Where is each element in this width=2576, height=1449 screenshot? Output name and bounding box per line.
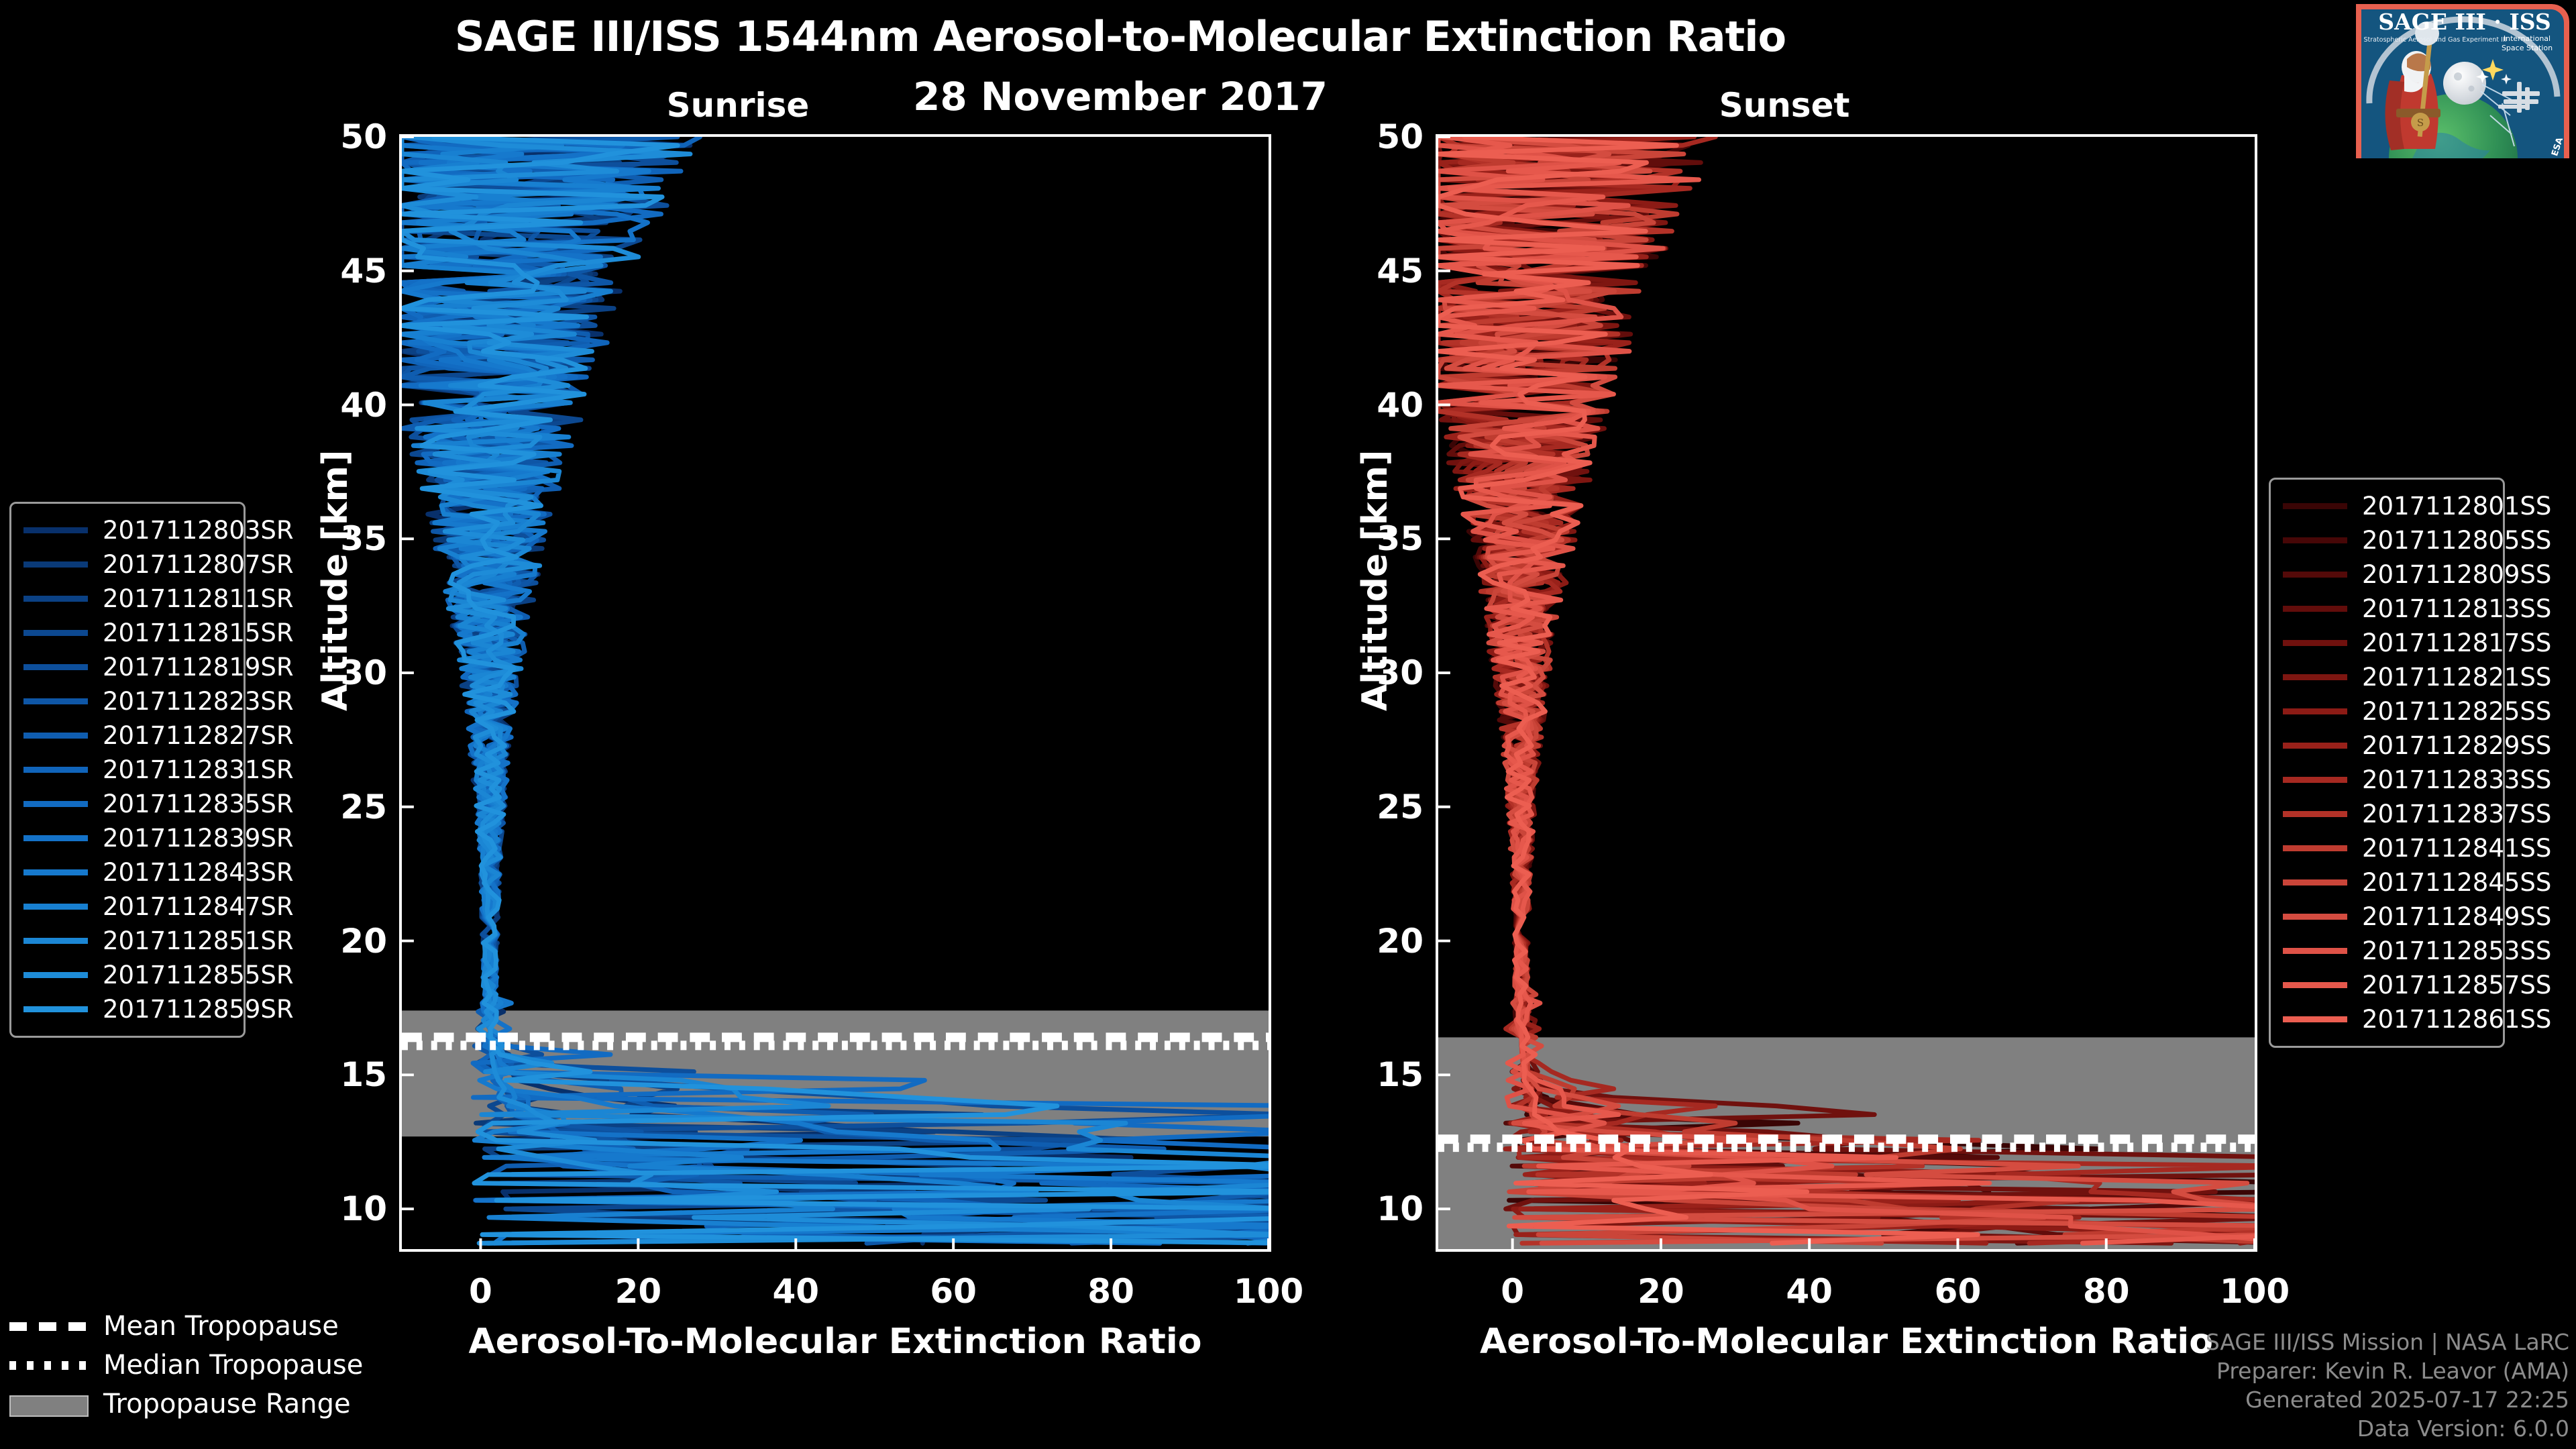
legend-item[interactable]: 2017112827SR (23, 718, 231, 753)
logo-subtitle-right-1: International (2504, 34, 2551, 43)
legend-color-swatch (2283, 1016, 2347, 1022)
legend-color-swatch (2283, 708, 2347, 714)
y-axis-tick-label: 40 (340, 386, 387, 425)
plot-panel-sunrise: 101520253035404550020406080100Aerosol-To… (399, 134, 1271, 1252)
legend-item[interactable]: 2017112851SR (23, 924, 231, 958)
legend-item-label: 2017112831SR (103, 755, 294, 784)
legend-color-swatch (2283, 982, 2347, 988)
legend-item[interactable]: 2017112847SR (23, 890, 231, 924)
plot-panel-sunset: 101520253035404550020406080100Aerosol-To… (1436, 134, 2257, 1252)
x-axis-tick-label: 60 (930, 1272, 977, 1311)
x-axis-title: Aerosol-To-Molecular Extinction Ratio (402, 1322, 1269, 1362)
x-axis-tick-label: 60 (1935, 1272, 1982, 1311)
tropopause-legend: Mean TropopauseMedian TropopauseTropopau… (9, 1307, 363, 1424)
legend-color-swatch (23, 733, 88, 739)
legend-item[interactable]: 2017112835SR (23, 787, 231, 821)
legend-item[interactable]: 2017112843SR (23, 855, 231, 890)
legend-item-label: 2017112819SR (103, 653, 294, 682)
legend-item[interactable]: 2017112831SR (23, 753, 231, 787)
footer-line-generated: Generated 2025-07-17 22:25 (2206, 1386, 2569, 1415)
legend-color-swatch (23, 767, 88, 773)
legend-color-swatch (23, 664, 88, 670)
legend-item[interactable]: 2017112829SS (2283, 729, 2491, 763)
y-axis-tick-label: 20 (340, 922, 387, 961)
legend-color-swatch (2283, 606, 2347, 612)
legend-item-label: 2017112853SS (2362, 936, 2551, 965)
svg-text:S: S (2417, 117, 2424, 129)
legend-item-label: 2017112823SR (103, 687, 294, 716)
legend-color-swatch (2283, 537, 2347, 543)
footer-line-mission: SAGE III/ISS Mission | NASA LaRC (2206, 1328, 2569, 1357)
legend-item[interactable]: 2017112859SR (23, 992, 231, 1026)
legend-color-swatch (2283, 811, 2347, 817)
panel-caption-sunset: Sunset (1650, 86, 1919, 125)
legend-color-swatch (23, 527, 88, 533)
legend-item-label: 2017112835SR (103, 790, 294, 818)
legend-item-label: 2017112849SS (2362, 902, 2551, 931)
legend-item[interactable]: 2017112855SR (23, 958, 231, 992)
legend-item[interactable]: 2017112805SS (2283, 523, 2491, 557)
logo-title: SAGE III · ISS (2378, 9, 2551, 35)
legend-item[interactable]: 2017112801SS (2283, 489, 2491, 523)
legend-color-swatch (23, 904, 88, 910)
tropopause-legend-item: Tropopause Range (9, 1385, 363, 1424)
tropopause-legend-item: Mean Tropopause (9, 1307, 363, 1346)
legend-color-swatch (23, 698, 88, 704)
y-axis-title-sunset: Altitude [km] (1355, 449, 1395, 711)
x-axis-tick-label: 80 (1087, 1272, 1134, 1311)
legend-item-label: 2017112859SR (103, 995, 294, 1024)
footer-credits: SAGE III/ISS Mission | NASA LaRC Prepare… (2206, 1328, 2569, 1444)
footer-line-version: Data Version: 6.0.0 (2206, 1415, 2569, 1444)
logo-subtitle-left: Stratospheric Aerosol and Gas Experiment… (2363, 36, 2506, 44)
legend-item-label: 2017112833SS (2362, 765, 2551, 794)
x-axis-tick-label: 100 (1234, 1272, 1303, 1311)
legend-color-swatch (2283, 914, 2347, 920)
footer-line-preparer: Preparer: Kevin R. Leavor (AMA) (2206, 1357, 2569, 1386)
legend-item[interactable]: 2017112833SS (2283, 763, 2491, 797)
legend-item-label: 2017112843SR (103, 858, 294, 887)
legend-item-label: 2017112825SS (2362, 697, 2551, 726)
legend-color-swatch (23, 801, 88, 807)
page-title: SAGE III/ISS 1544nm Aerosol-to-Molecular… (0, 12, 2241, 61)
x-axis-tick-label: 20 (1638, 1272, 1684, 1311)
legend-color-swatch (2283, 948, 2347, 954)
y-axis-tick-label: 10 (340, 1189, 387, 1228)
legend-item[interactable]: 2017112837SS (2283, 797, 2491, 831)
x-axis-tick-label: 20 (615, 1272, 662, 1311)
legend-item[interactable]: 2017112825SS (2283, 694, 2491, 729)
x-axis-tick-label: 0 (1501, 1272, 1524, 1311)
legend-item-label: 2017112837SS (2362, 800, 2551, 828)
legend-item[interactable]: 2017112823SR (23, 684, 231, 718)
legend-item-label: 2017112845SS (2362, 868, 2551, 897)
legend-item[interactable]: 2017112811SR (23, 582, 231, 616)
y-axis-tick-label: 25 (1377, 788, 1424, 826)
legend-item[interactable]: 2017112813SS (2283, 592, 2491, 626)
legend-color-swatch (23, 630, 88, 636)
legend-item[interactable]: 2017112803SR (23, 513, 231, 547)
x-axis-tick-label: 80 (2083, 1272, 2130, 1311)
legend-item-label: 2017112841SS (2362, 834, 2551, 863)
legend-color-swatch (23, 596, 88, 602)
legend-item-label: 2017112815SR (103, 619, 294, 647)
y-axis-tick-label: 10 (1377, 1189, 1424, 1228)
legend-color-swatch (2283, 777, 2347, 783)
legend-item-label: 2017112827SR (103, 721, 294, 750)
legend-item[interactable]: 2017112857SS (2283, 968, 2491, 1002)
x-axis-tick-label: 40 (772, 1272, 819, 1311)
legend-color-swatch (2283, 879, 2347, 885)
legend-color-swatch (23, 869, 88, 875)
legend-sunrise[interactable]: 2017112803SR2017112807SR2017112811SR2017… (9, 502, 246, 1038)
y-axis-tick-label: 15 (1377, 1055, 1424, 1094)
x-axis-title: Aerosol-To-Molecular Extinction Ratio (1438, 1322, 2255, 1362)
panel-caption-sunrise: Sunrise (604, 86, 872, 125)
filled-band-icon (9, 1395, 89, 1413)
y-axis-tick-label: 50 (1377, 117, 1424, 156)
legend-item[interactable]: 2017112853SS (2283, 934, 2491, 968)
legend-item[interactable]: 2017112839SR (23, 821, 231, 855)
legend-color-swatch (23, 938, 88, 944)
legend-item[interactable]: 2017112845SS (2283, 865, 2491, 900)
legend-item-label: 2017112821SS (2362, 663, 2551, 692)
legend-color-swatch (23, 1006, 88, 1012)
legend-color-swatch (2283, 640, 2347, 646)
legend-item[interactable]: 2017112849SS (2283, 900, 2491, 934)
legend-item-label: 2017112813SS (2362, 594, 2551, 623)
legend-color-swatch (2283, 845, 2347, 851)
legend-item-label: 2017112839SR (103, 824, 294, 853)
y-axis-tick-label: 40 (1377, 386, 1424, 425)
legend-item-label: 2017112855SR (103, 961, 294, 989)
y-axis-tick-label: 20 (1377, 922, 1424, 961)
legend-item[interactable]: 2017112817SS (2283, 626, 2491, 660)
legend-item-label: 2017112847SR (103, 892, 294, 921)
legend-color-swatch (2283, 743, 2347, 749)
logo-subtitle-right-2: Space Station (2502, 44, 2553, 52)
y-axis-tick-label: 45 (340, 252, 387, 290)
y-axis-tick-label: 15 (340, 1055, 387, 1094)
legend-item[interactable]: 2017112821SS (2283, 660, 2491, 694)
legend-item[interactable]: 2017112841SS (2283, 831, 2491, 865)
y-axis-tick-label: 25 (340, 788, 387, 826)
x-axis-tick-label: 0 (469, 1272, 492, 1311)
legend-item-label: 2017112801SS (2362, 492, 2551, 521)
legend-item-label: 2017112807SR (103, 550, 294, 579)
y-axis-tick-label: 45 (1377, 252, 1424, 290)
y-axis-tick-label: 50 (340, 117, 387, 156)
sage-iii-iss-logo: S SAGE III · ISS Stratospheric Aerosol a… (2289, 3, 2571, 158)
sunrise-profile-canvas (402, 137, 1269, 1249)
legend-item[interactable]: 2017112861SS (2283, 1002, 2491, 1036)
dashed-line-icon (9, 1318, 89, 1335)
legend-item-label: 2017112809SS (2362, 560, 2551, 589)
legend-color-swatch (2283, 572, 2347, 578)
legend-color-swatch (2283, 674, 2347, 680)
legend-color-swatch (23, 972, 88, 978)
legend-sunset[interactable]: 2017112801SS2017112805SS2017112809SS2017… (2269, 478, 2505, 1048)
legend-item-label: 2017112803SR (103, 516, 294, 545)
tropopause-legend-label: Tropopause Range (103, 1389, 351, 1419)
legend-color-swatch (23, 561, 88, 568)
legend-item-label: 2017112857SS (2362, 971, 2551, 1000)
x-axis-tick-label: 100 (2220, 1272, 2290, 1311)
dotted-line-icon (9, 1356, 89, 1374)
legend-item-label: 2017112829SS (2362, 731, 2551, 760)
y-axis-title-sunrise: Altitude [km] (315, 449, 356, 711)
legend-color-swatch (2283, 503, 2347, 509)
legend-item[interactable]: 2017112809SS (2283, 557, 2491, 592)
legend-item-label: 2017112851SR (103, 926, 294, 955)
tropopause-legend-label: Mean Tropopause (103, 1311, 339, 1342)
x-axis-tick-label: 40 (1786, 1272, 1833, 1311)
legend-item[interactable]: 2017112807SR (23, 547, 231, 582)
legend-item[interactable]: 2017112815SR (23, 616, 231, 650)
tropopause-legend-label: Median Tropopause (103, 1350, 363, 1381)
mission-patch-icon: S SAGE III · ISS Stratospheric Aerosol a… (2289, 3, 2571, 158)
sunset-profile-canvas (1438, 137, 2255, 1249)
legend-item[interactable]: 2017112819SR (23, 650, 231, 684)
tropopause-legend-item: Median Tropopause (9, 1346, 363, 1385)
legend-item-label: 2017112861SS (2362, 1005, 2551, 1034)
legend-item-label: 2017112817SS (2362, 629, 2551, 657)
legend-item-label: 2017112811SR (103, 584, 294, 613)
legend-color-swatch (23, 835, 88, 841)
legend-item-label: 2017112805SS (2362, 526, 2551, 555)
